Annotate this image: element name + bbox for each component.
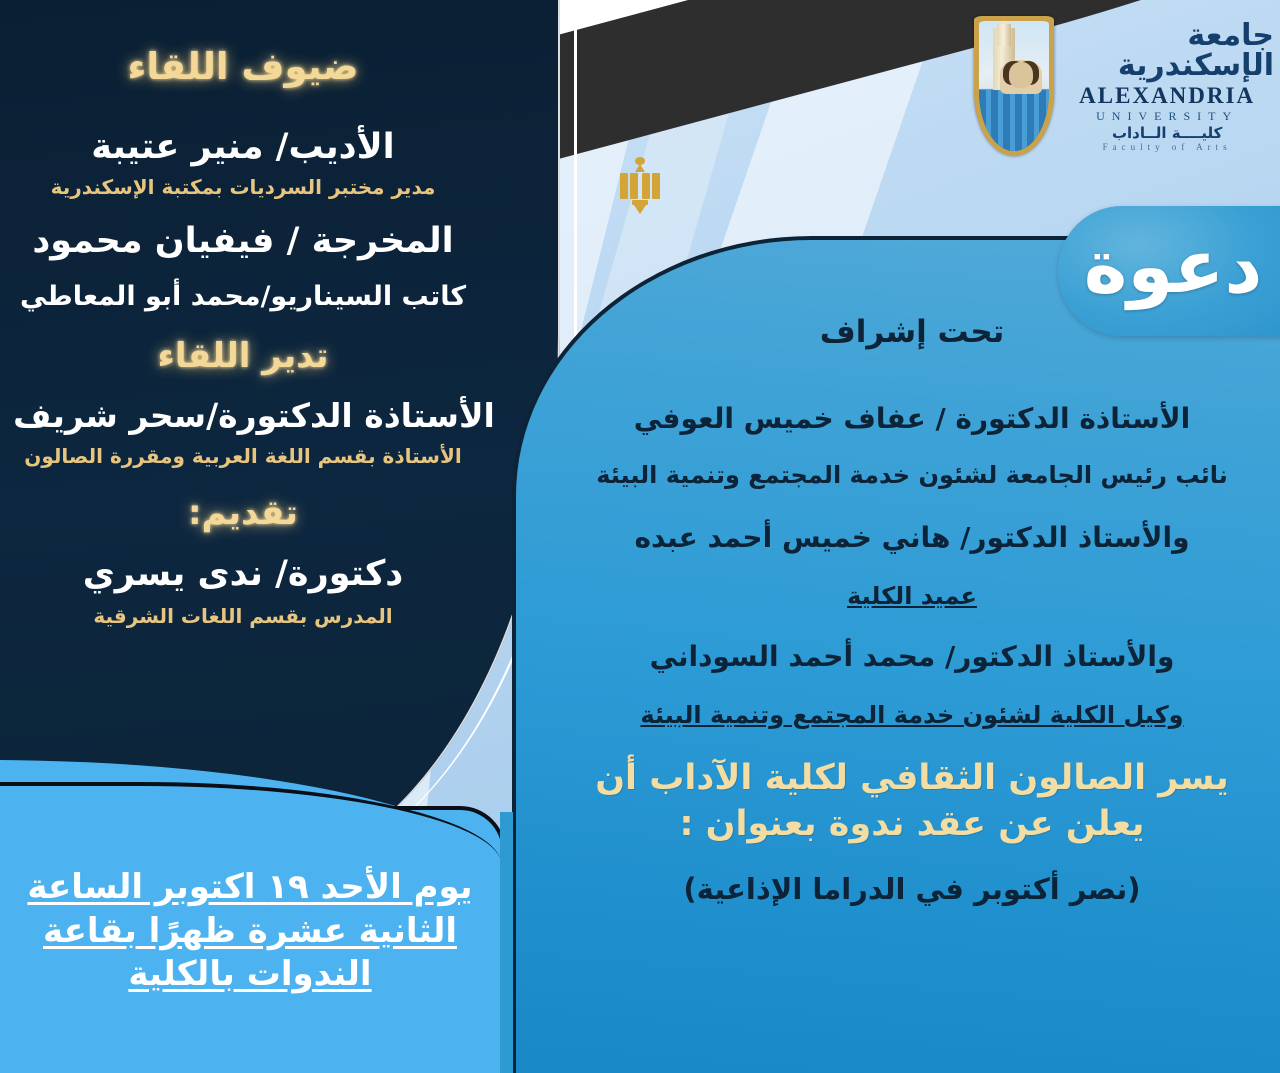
supervisor-role: نائب رئيس الجامعة لشئون خدمة المجتمع وتن… xyxy=(552,460,1272,490)
logo-english-name: ALEXANDRIA xyxy=(1079,84,1255,107)
eagle-of-saladin-icon xyxy=(610,152,670,224)
presenter-name: دكتورة/ ندى يسري xyxy=(0,554,486,594)
university-logo: جامعة الإسكندرية ALEXANDRIA UNIVERSITY ك… xyxy=(974,6,1274,166)
announcement-line-1: يسر الصالون الثقافي لكلية الآداب أن xyxy=(552,756,1272,802)
moderator-name: الأستاذة الدكتورة/سحر شريف xyxy=(0,397,508,435)
supervisor-name: والأستاذ الدكتور/ هاني خميس أحمد عبده xyxy=(552,520,1272,555)
announcement-line-2: يعلن عن عقد ندوة بعنوان : xyxy=(552,802,1272,848)
guests-panel-content: ضيوف اللقاء الأديب/ منير عتيبة مدير مختب… xyxy=(0,0,500,880)
supervisor-name: الأستاذة الدكتورة / عفاف خميس العوفي xyxy=(552,401,1272,436)
presenter-role: المدرس بقسم اللغات الشرقية xyxy=(0,604,486,628)
supervisor-name: والأستاذ الدكتور/ محمد أحمد السوداني xyxy=(552,639,1272,674)
logo-arabic-name: جامعة الإسكندرية xyxy=(1060,21,1274,81)
guests-heading: ضيوف اللقاء xyxy=(0,46,486,89)
moderator-heading: تدير اللقاء xyxy=(0,337,486,376)
presenter-heading: تقديم: xyxy=(0,494,486,533)
alexandria-university-crest-icon xyxy=(974,16,1054,156)
guest-name: المخرجة / فيفيان محمود xyxy=(0,221,486,261)
supervision-panel-content: تحت إشراف الأستاذة الدكتورة / عفاف خميس … xyxy=(512,236,1280,1073)
logo-faculty-english: Faculty of Arts xyxy=(1103,143,1232,152)
logo-faculty-arabic: كليــــة الــاداب xyxy=(1112,126,1222,141)
supervisor-role: عميد الكلية xyxy=(552,581,1272,611)
event-poster: جامعة الإسكندرية ALEXANDRIA UNIVERSITY ك… xyxy=(0,0,1280,1073)
guest-role: مدير مختبر السرديات بمكتبة الإسكندرية xyxy=(0,175,486,199)
logo-university-word: UNIVERSITY xyxy=(1096,110,1238,122)
guest-name: كاتب السيناريو/محمد أبو المعاطي xyxy=(0,281,486,313)
moderator-role: الأستاذة بقسم اللغة العربية ومقررة الصال… xyxy=(0,444,486,468)
supervisor-role: وكيل الكلية لشئون خدمة المجتمع وتنمية ال… xyxy=(552,700,1272,730)
date-block-side-strip xyxy=(500,812,516,1073)
invitation-badge-label: دعوة xyxy=(1084,230,1263,304)
event-date-text: يوم الأحد ١٩ اكتوبر الساعة الثانية عشرة … xyxy=(0,866,500,997)
seminar-title: (نصر أكتوبر في الدراما الإذاعية) xyxy=(552,871,1272,909)
guest-name: الأديب/ منير عتيبة xyxy=(0,127,486,167)
logo-text-block: جامعة الإسكندرية ALEXANDRIA UNIVERSITY ك… xyxy=(1060,21,1274,152)
crest-waves xyxy=(979,90,1049,151)
invitation-badge: دعوة xyxy=(1058,206,1280,336)
